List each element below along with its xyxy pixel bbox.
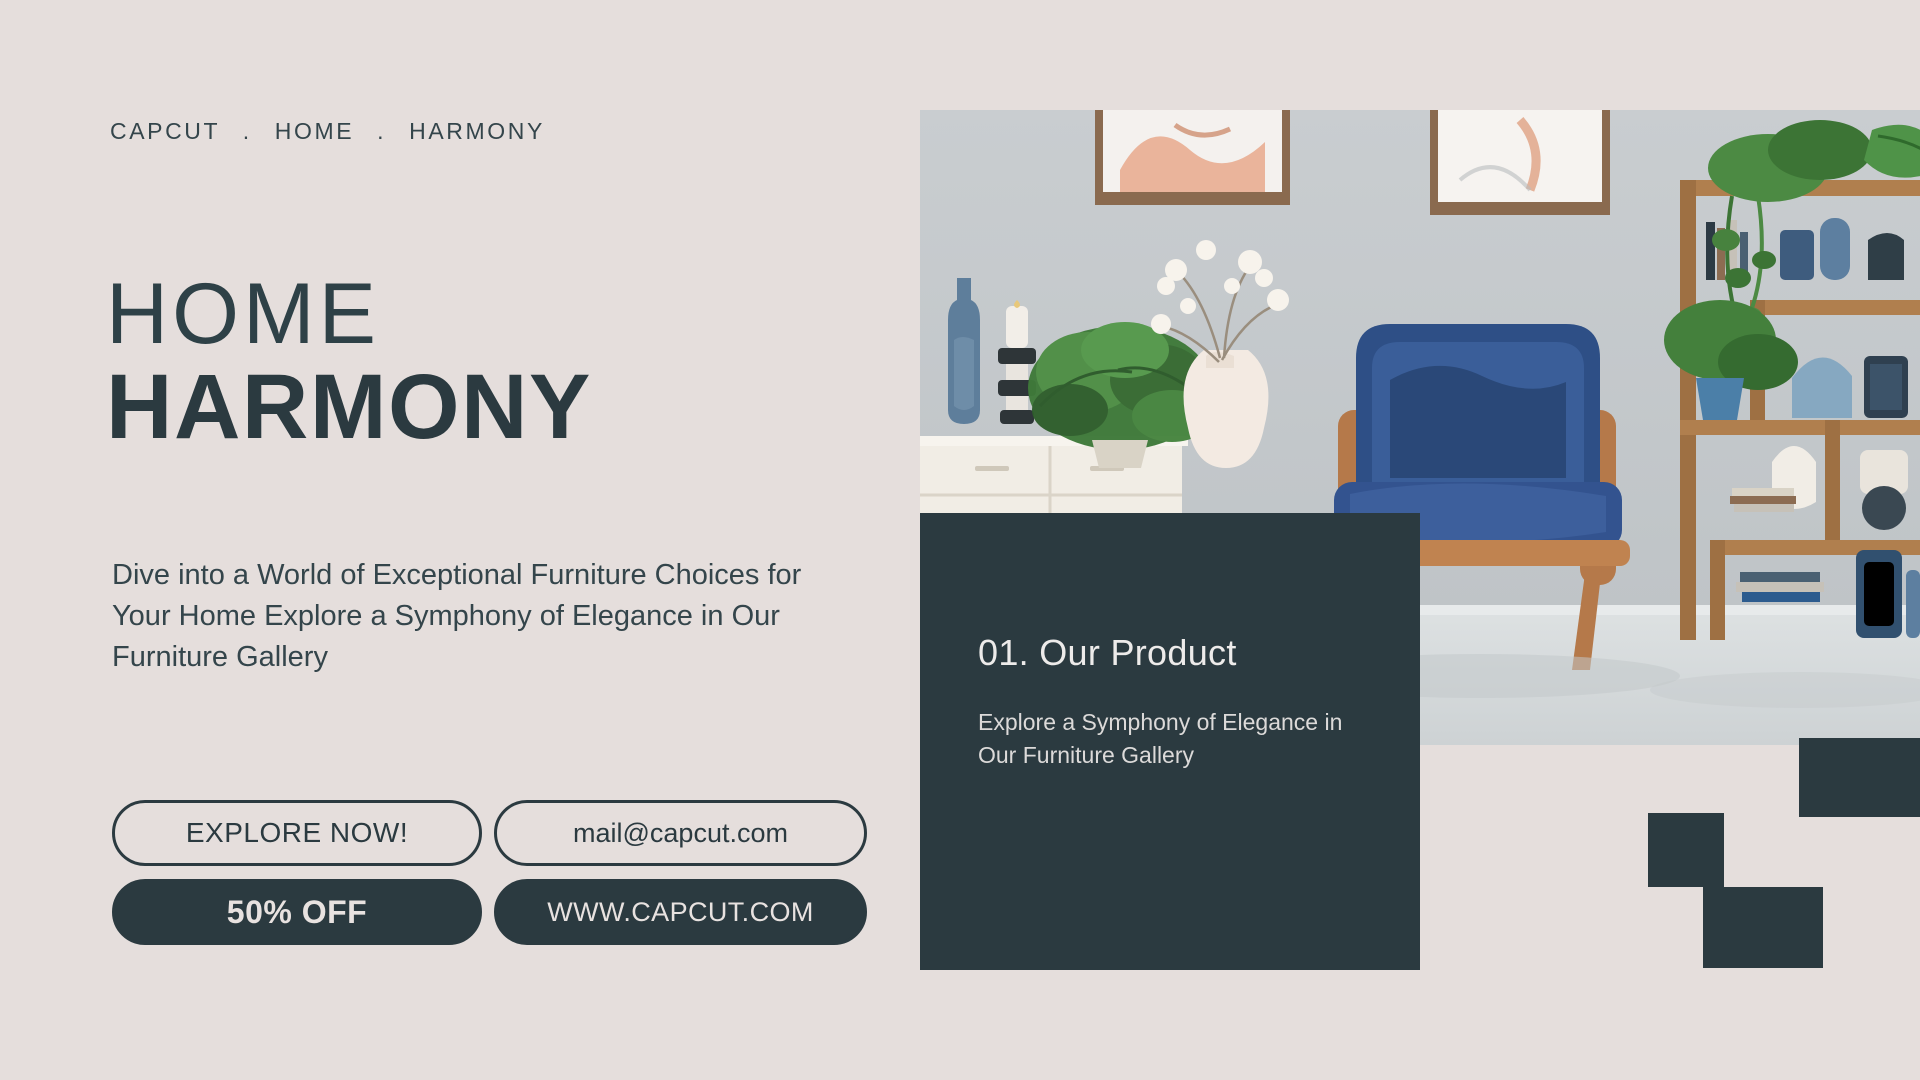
hero-description: Dive into a World of Exceptional Furnitu… [112, 555, 842, 679]
cta-button-group: EXPLORE NOW! mail@capcut.com 50% OFF WWW… [112, 800, 867, 945]
nav-separator-2: . [363, 118, 400, 145]
decorative-square-top [1799, 738, 1920, 817]
hero-title-line-2: HARMONY [106, 362, 592, 452]
breadcrumb-nav: CAPCUT . HOME . HARMONY [110, 118, 545, 145]
product-overlay-card: 01. Our Product Explore a Symphony of El… [920, 513, 1420, 970]
explore-now-button[interactable]: EXPLORE NOW! [112, 800, 482, 866]
left-content-column: CAPCUT . HOME . HARMONY HOME HARMONY Div… [110, 0, 870, 1080]
product-card-title: 01. Our Product [978, 632, 1237, 674]
decorative-square-bottom [1703, 887, 1823, 968]
nav-separator-1: . [229, 118, 266, 145]
nav-item-harmony[interactable]: HARMONY [409, 118, 545, 144]
nav-item-capcut[interactable]: CAPCUT [110, 118, 220, 144]
nav-item-home[interactable]: HOME [275, 118, 354, 144]
product-card-description: Explore a Symphony of Elegance in Our Fu… [978, 706, 1358, 771]
hero-title-line-1: HOME [106, 272, 592, 356]
discount-badge-button[interactable]: 50% OFF [112, 879, 482, 945]
page-title: HOME HARMONY [106, 272, 592, 452]
decorative-square-middle [1648, 813, 1724, 887]
website-button[interactable]: WWW.CAPCUT.COM [494, 879, 867, 945]
email-button[interactable]: mail@capcut.com [494, 800, 867, 866]
